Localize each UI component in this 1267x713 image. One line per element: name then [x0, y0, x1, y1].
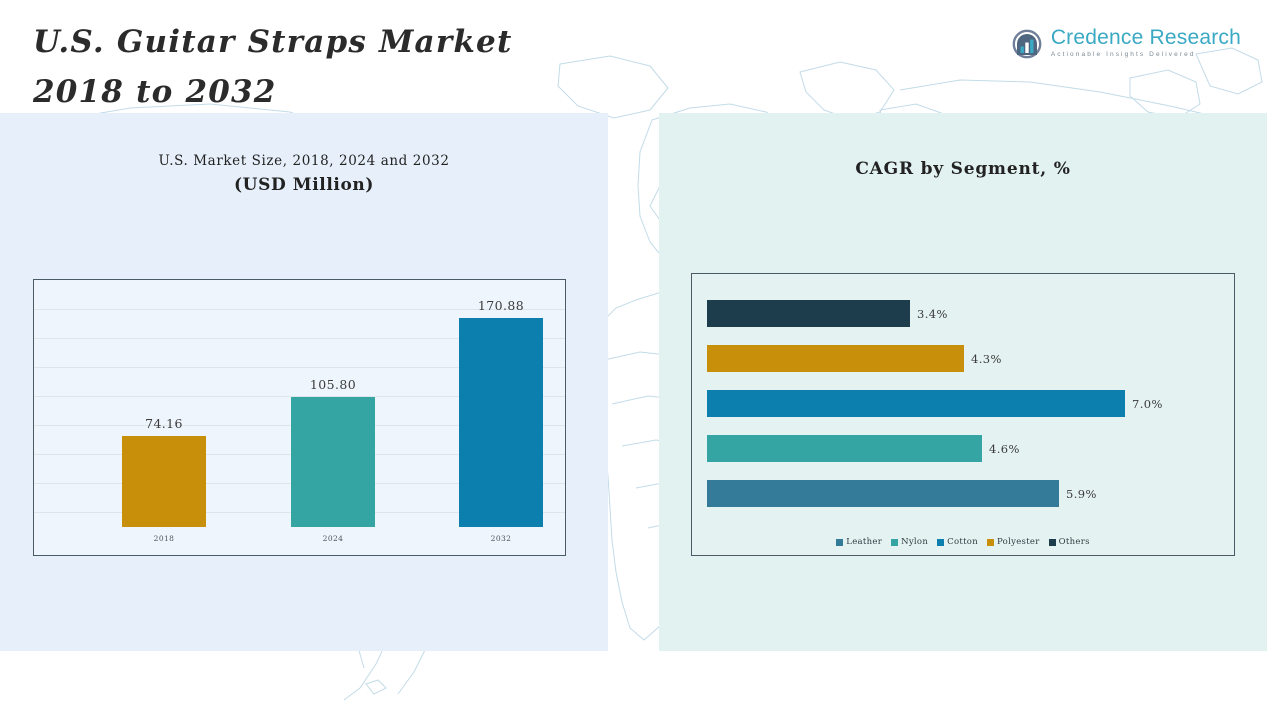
table-row: 74.162018 [122, 436, 206, 527]
x-axis-tick-label: 2018 [100, 534, 228, 543]
legend-item-others[interactable]: Others [1049, 537, 1090, 547]
bar-cotton [707, 390, 1125, 417]
bar-others [707, 300, 910, 327]
cagr-by-segment-bar-chart: 3.4%4.3%7.0%4.6%5.9% LeatherNylonCottonP… [691, 273, 1235, 556]
page-title: U.S. Guitar Straps Market 2018 to 2032 [33, 17, 633, 117]
bar-value-label: 3.4% [917, 307, 948, 321]
brand-logo: Credence Research Actionable Insights De… [1012, 27, 1241, 60]
bar-2032 [459, 318, 543, 527]
logo-name-primary: Credence [1051, 26, 1144, 49]
legend-swatch-icon [891, 539, 898, 546]
logo-tagline: Actionable Insights Delivered [1051, 50, 1241, 60]
bar-value-label: 4.3% [971, 352, 1002, 366]
legend-item-label: Nylon [901, 537, 928, 547]
legend-item-polyester[interactable]: Polyester [987, 537, 1040, 547]
bar-value-label: 170.88 [437, 298, 565, 313]
x-axis-tick-label: 2032 [437, 534, 565, 543]
bar-value-label: 7.0% [1132, 397, 1163, 411]
right-chart-legend: LeatherNylonCottonPolyesterOthers [692, 537, 1234, 547]
legend-item-leather[interactable]: Leather [836, 537, 882, 547]
legend-swatch-icon [987, 539, 994, 546]
legend-item-nylon[interactable]: Nylon [891, 537, 928, 547]
left-chart-plot-area: 74.162018105.802024170.882032 [34, 280, 565, 555]
table-row: 5.9% [707, 480, 1227, 507]
bar-value-label: 5.9% [1066, 487, 1097, 501]
table-row: 3.4% [707, 300, 1227, 327]
legend-item-label: Others [1059, 537, 1090, 547]
bar-2024 [291, 397, 375, 527]
left-chart-subtitle: (USD Million) [0, 175, 608, 195]
table-row: 4.6% [707, 435, 1227, 462]
right-chart-title: CAGR by Segment, % [659, 159, 1267, 179]
legend-swatch-icon [1049, 539, 1056, 546]
table-row: 105.802024 [291, 397, 375, 527]
x-axis-tick-label: 2024 [269, 534, 397, 543]
bar-2018 [122, 436, 206, 527]
legend-item-label: Cotton [947, 537, 978, 547]
bar-nylon [707, 435, 982, 462]
header: U.S. Guitar Straps Market 2018 to 2032 C… [0, 0, 1267, 113]
table-row: 7.0% [707, 390, 1227, 417]
logo-name-secondary: Research [1150, 26, 1241, 49]
table-row: 170.882032 [459, 318, 543, 527]
bar-polyester [707, 345, 964, 372]
left-chart-title: U.S. Market Size, 2018, 2024 and 2032 [0, 153, 608, 169]
market-size-bar-chart: 74.162018105.802024170.882032 [33, 279, 566, 556]
bar-leather [707, 480, 1059, 507]
legend-item-label: Polyester [997, 537, 1040, 547]
legend-swatch-icon [937, 539, 944, 546]
legend-item-cotton[interactable]: Cotton [937, 537, 978, 547]
legend-item-label: Leather [846, 537, 882, 547]
bar-value-label: 105.80 [269, 377, 397, 392]
legend-swatch-icon [836, 539, 843, 546]
bar-chart-circle-icon [1012, 29, 1042, 59]
bar-value-label: 74.16 [100, 416, 228, 431]
bar-value-label: 4.6% [989, 442, 1020, 456]
table-row: 4.3% [707, 345, 1227, 372]
